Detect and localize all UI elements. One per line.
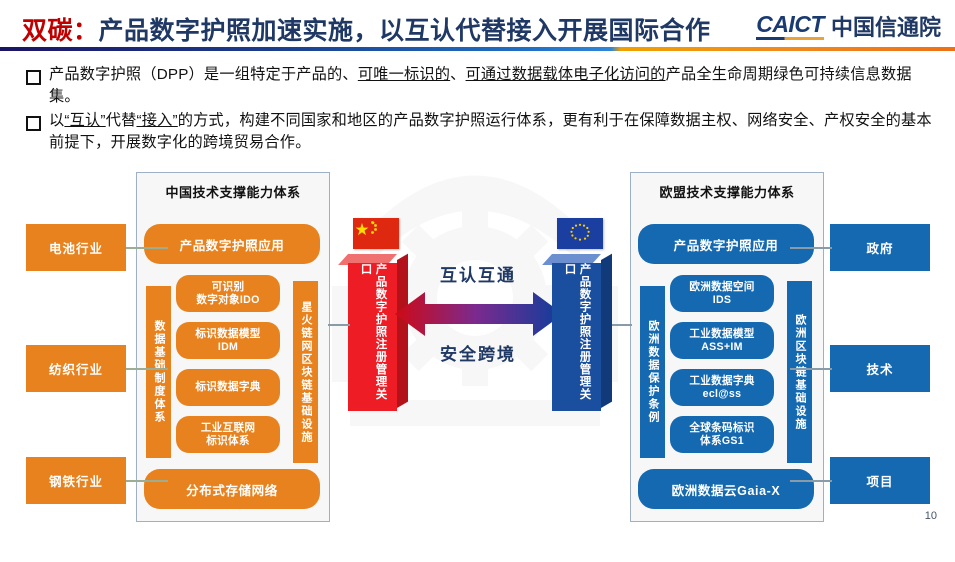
eu-pill-3-line1: 全球条码标识 bbox=[689, 422, 754, 435]
china-bottom-layer[interactable]: 分布式存储网络 bbox=[144, 469, 320, 509]
china-pill-3-line1: 工业互联网 bbox=[201, 422, 255, 435]
category-project[interactable]: 项目 bbox=[830, 457, 930, 504]
eu-pill-1[interactable]: 工业数据模型 ASS+IM bbox=[670, 322, 774, 359]
china-pill-0[interactable]: 可识别 数字对象IDO bbox=[176, 275, 280, 312]
bullet-text: 以“互认”代替“接入”的方式，构建不同国家和地区的产品数字护照运行体系，更有利于… bbox=[49, 110, 932, 154]
china-left-vbar[interactable]: 数据基础制度体系 bbox=[146, 286, 171, 458]
eu-flag-icon bbox=[557, 218, 603, 249]
china-pill-0-line2: 数字对象IDO bbox=[196, 294, 259, 307]
page-title-highlight: 双碳： bbox=[22, 17, 99, 45]
china-pillar-label[interactable]: 产品数字护照注册管理关口 bbox=[348, 263, 397, 411]
category-steel[interactable]: 钢铁行业 bbox=[26, 457, 126, 504]
arrow-bottom-label: 安全跨境 bbox=[440, 340, 516, 365]
eu-bottom-layer[interactable]: 欧洲数据云Gaia-X bbox=[638, 469, 814, 509]
eu-pill-0-line1: 欧洲数据空间 bbox=[689, 281, 754, 294]
eu-pill-2-line1: 工业数据字典 bbox=[689, 375, 754, 388]
square-bullet-icon bbox=[26, 70, 41, 85]
connector-textile bbox=[126, 368, 168, 370]
bullet-segment: “互认” bbox=[64, 112, 105, 129]
connector-government bbox=[790, 247, 832, 249]
category-government[interactable]: 政府 bbox=[830, 224, 930, 271]
china-right-vbar[interactable]: 星火链网区块链基础设施 bbox=[293, 281, 318, 463]
caict-logo-latin-text: CAICT bbox=[756, 11, 824, 37]
bullet-segment: 代替 bbox=[106, 112, 137, 129]
eu-app-layer[interactable]: 产品数字护照应用 bbox=[638, 224, 814, 264]
eu-pill-2-line2: ecl@ss bbox=[703, 388, 742, 401]
arrow-top-label: 互认互通 bbox=[440, 261, 516, 286]
china-pill-1[interactable]: 标识数据模型 IDM bbox=[176, 322, 280, 359]
china-pill-2-line1: 标识数据字典 bbox=[195, 381, 260, 394]
header-divider-bar bbox=[0, 47, 955, 51]
china-pill-3[interactable]: 工业互联网 标识体系 bbox=[176, 416, 280, 453]
china-flag-icon bbox=[353, 218, 399, 249]
bullet-list: 产品数字护照（DPP）是一组特定于产品的、可唯一标识的、可通过数据载体电子化访问… bbox=[26, 64, 932, 156]
china-pill-1-line1: 标识数据模型 bbox=[195, 328, 260, 341]
eu-pill-0-line2: IDS bbox=[713, 294, 732, 307]
china-pill-0-line1: 可识别 bbox=[212, 281, 245, 294]
eu-left-vbar[interactable]: 欧洲数据保护条例 bbox=[640, 286, 665, 458]
eu-pill-0[interactable]: 欧洲数据空间 IDS bbox=[670, 275, 774, 312]
page-number: 10 bbox=[925, 510, 937, 522]
china-pill-1-line2: IDM bbox=[218, 341, 238, 354]
connector-project bbox=[790, 480, 832, 482]
category-technology[interactable]: 技术 bbox=[830, 345, 930, 392]
bullet-segment: 的方式，构建不同国家和地区的产品数字护照运行体系，更有利于在保障数据主权、网络安… bbox=[49, 112, 932, 151]
eu-pill-3-line2: 体系GS1 bbox=[700, 435, 744, 448]
bullet-text: 产品数字护照（DPP）是一组特定于产品的、可唯一标识的、可通过数据载体电子化访问… bbox=[49, 64, 932, 108]
connector-eu-pillar bbox=[612, 324, 632, 326]
eu-pill-1-line1: 工业数据模型 bbox=[689, 328, 754, 341]
china-pill-3-line2: 标识体系 bbox=[206, 435, 250, 448]
bullet-segment: 产品数字护照（DPP）是一组特定于产品的、 bbox=[49, 66, 358, 83]
caict-logo: CAICT 中国信通院 bbox=[756, 12, 941, 40]
connector-steel bbox=[126, 480, 168, 482]
eu-pillar-label[interactable]: 产品数字护照注册管理关口 bbox=[552, 263, 601, 411]
category-textile[interactable]: 纺织行业 bbox=[26, 345, 126, 392]
eu-right-vbar[interactable]: 欧洲区块链基础设施 bbox=[787, 281, 812, 463]
china-pill-2[interactable]: 标识数据字典 bbox=[176, 369, 280, 406]
eu-pill-1-line2: ASS+IM bbox=[701, 341, 743, 354]
eu-pillar-side bbox=[601, 254, 612, 408]
slide-header: 双碳：产品数字护照加速实施，以互认代替接入开展国际合作 CAICT 中国信通院 bbox=[0, 0, 955, 48]
category-battery[interactable]: 电池行业 bbox=[26, 224, 126, 271]
connector-battery bbox=[126, 247, 168, 249]
square-bullet-icon bbox=[26, 116, 41, 131]
china-app-layer[interactable]: 产品数字护照应用 bbox=[144, 224, 320, 264]
architecture-diagram: 中国技术支撑能力体系 产品数字护照应用 数据基础制度体系 星火链网区块链基础设施… bbox=[0, 168, 955, 528]
china-panel-title: 中国技术支撑能力体系 bbox=[137, 182, 329, 201]
page-title: 双碳：产品数字护照加速实施，以互认代替接入开展国际合作 bbox=[22, 11, 711, 47]
caict-logo-latin: CAICT bbox=[756, 12, 824, 40]
caict-logo-underline bbox=[756, 37, 824, 40]
eu-pill-3[interactable]: 全球条码标识 体系GS1 bbox=[670, 416, 774, 453]
eu-panel-title: 欧盟技术支撑能力体系 bbox=[631, 182, 823, 201]
bullet-segment: 、 bbox=[450, 66, 465, 83]
bullet-segment: 可唯一标识的 bbox=[358, 66, 450, 83]
list-item: 产品数字护照（DPP）是一组特定于产品的、可唯一标识的、可通过数据载体电子化访问… bbox=[26, 64, 932, 108]
connector-technology bbox=[790, 368, 832, 370]
bullet-segment: 可通过数据载体电子化访问的 bbox=[466, 66, 666, 83]
bullet-segment: “接入” bbox=[136, 112, 177, 129]
caict-logo-chinese: 中国信通院 bbox=[831, 16, 941, 40]
page-title-rest: 产品数字护照加速实施，以互认代替接入开展国际合作 bbox=[99, 17, 711, 45]
mutual-recognition-arrow bbox=[395, 290, 563, 338]
eu-pill-2[interactable]: 工业数据字典 ecl@ss bbox=[670, 369, 774, 406]
connector-china-pillar bbox=[328, 324, 350, 326]
list-item: 以“互认”代替“接入”的方式，构建不同国家和地区的产品数字护照运行体系，更有利于… bbox=[26, 110, 932, 154]
bullet-segment: 以 bbox=[49, 112, 64, 129]
